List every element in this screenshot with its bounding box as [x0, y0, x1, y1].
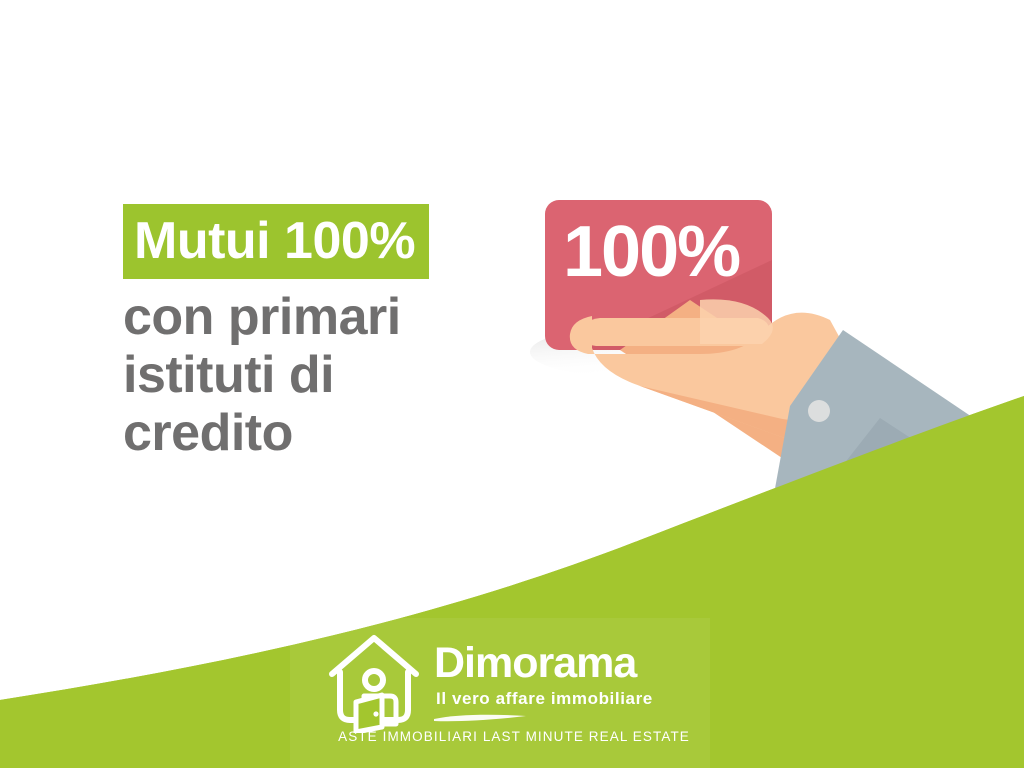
promo-banner: Mutui 100% con primari istituti di credi… — [0, 0, 1024, 768]
house-with-open-door-icon — [324, 628, 424, 733]
headline-line-3: credito — [123, 404, 543, 462]
headline-line-1: con primari — [123, 288, 543, 346]
headline-highlight: Mutui 100% — [123, 204, 429, 279]
brush-underline-icon — [432, 712, 528, 724]
headline-line-2: istituti di — [123, 346, 543, 404]
logo-wordmark: Dimorama — [434, 642, 636, 685]
headline-body: con primari istituti di credito — [123, 288, 543, 462]
badge-label: 100% — [563, 216, 739, 288]
logo-caption: ASTE IMMOBILIARI LAST MINUTE REAL ESTATE — [324, 730, 704, 744]
dimorama-logo[interactable]: Dimorama Il vero affare immobiliare ASTE… — [324, 620, 704, 750]
logo-tagline: Il vero affare immobiliare — [436, 690, 653, 707]
headline-block: Mutui 100% con primari istituti di credi… — [123, 204, 543, 462]
